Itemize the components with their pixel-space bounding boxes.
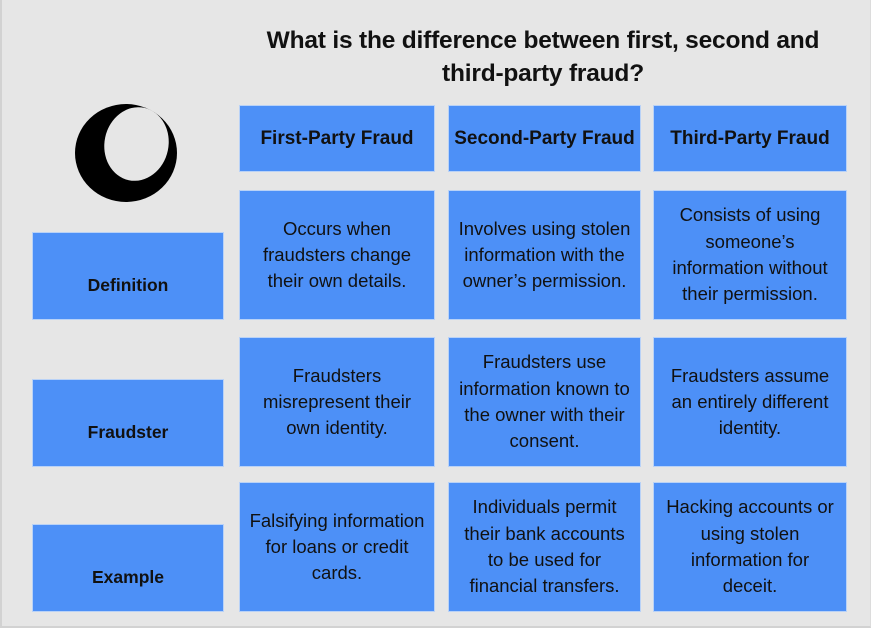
cell-definition-second-party: Involves using stolen information with t…	[448, 190, 641, 320]
cell-text: Fraudsters assume an entirely different …	[663, 363, 837, 442]
column-header-second-party: Second-Party Fraud	[448, 105, 641, 172]
crescent-circle-logo-icon	[74, 103, 178, 203]
column-header-first-party: First-Party Fraud	[239, 105, 435, 172]
cell-fraudster-first-party: Fraudsters misrepresent their own identi…	[239, 337, 435, 467]
cell-fraudster-third-party: Fraudsters assume an entirely different …	[653, 337, 847, 467]
cell-text: Occurs when fraudsters change their own …	[249, 216, 425, 295]
row-label-definition: Definition	[32, 232, 224, 320]
cell-text: Involves using stolen information with t…	[458, 216, 631, 295]
page-title-line-1: What is the difference between first, se…	[233, 25, 853, 58]
column-header-label: Third-Party Fraud	[670, 126, 829, 152]
column-header-label: First-Party Fraud	[260, 126, 413, 152]
cell-example-second-party: Individuals permit their bank accounts t…	[448, 482, 641, 612]
cell-example-first-party: Falsifying information for loans or cred…	[239, 482, 435, 612]
page-title-line-2: third-party fraud?	[233, 58, 853, 91]
column-header-third-party: Third-Party Fraud	[653, 105, 847, 172]
column-header-label: Second-Party Fraud	[454, 126, 635, 152]
cell-definition-third-party: Consists of using someone’s information …	[653, 190, 847, 320]
cell-text: Fraudsters use information known to the …	[458, 349, 631, 454]
cell-example-third-party: Hacking accounts or using stolen informa…	[653, 482, 847, 612]
infographic-canvas: What is the difference between first, se…	[0, 0, 871, 628]
row-label-text: Fraudster	[88, 421, 169, 444]
row-label-example: Example	[32, 524, 224, 612]
cell-fraudster-second-party: Fraudsters use information known to the …	[448, 337, 641, 467]
cell-text: Falsifying information for loans or cred…	[249, 508, 425, 587]
cell-text: Individuals permit their bank accounts t…	[458, 494, 631, 599]
cell-text: Consists of using someone’s information …	[663, 202, 837, 307]
cell-text: Fraudsters misrepresent their own identi…	[249, 363, 425, 442]
row-label-text: Example	[92, 566, 164, 589]
page-title: What is the difference between first, se…	[233, 25, 853, 90]
row-label-fraudster: Fraudster	[32, 379, 224, 467]
cell-text: Hacking accounts or using stolen informa…	[663, 494, 837, 599]
row-label-text: Definition	[88, 274, 169, 297]
cell-definition-first-party: Occurs when fraudsters change their own …	[239, 190, 435, 320]
